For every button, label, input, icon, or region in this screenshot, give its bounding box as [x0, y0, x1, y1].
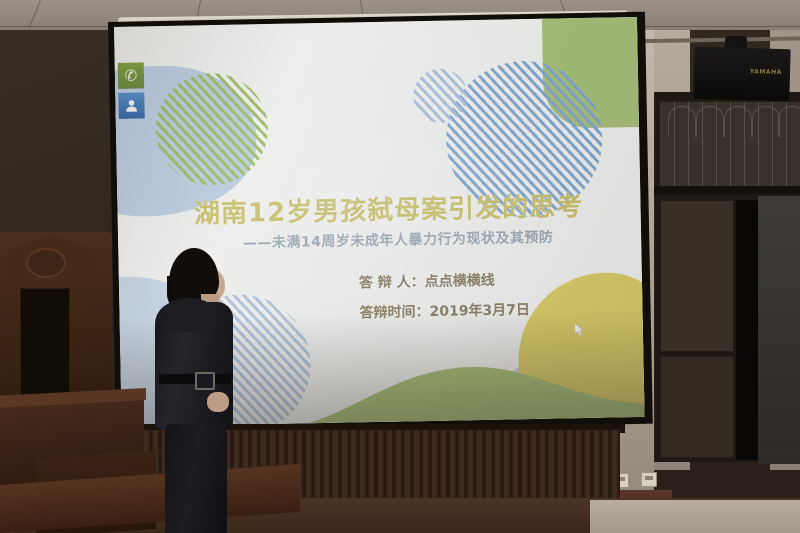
yamaha-speaker: YAMAHA: [693, 47, 790, 101]
slide-title: 湖南12岁男孩弑母案引发的思考: [173, 186, 604, 231]
door-panel: [660, 356, 734, 458]
photo-scene: YAMAHA 湖南12岁男孩弑母案引发的思考 ——未满14周岁未成年人暴力行为现…: [0, 0, 800, 533]
transom-window: [658, 100, 800, 192]
belt-buckle: [195, 372, 215, 390]
door-gap: [736, 200, 758, 460]
presenter-person: [145, 248, 250, 533]
green-hatched-circle: [155, 72, 269, 186]
chair-medallion-carving: [26, 248, 66, 278]
door-panel: [660, 200, 734, 352]
person-glyph: [124, 99, 138, 113]
clasped-hands: [207, 392, 229, 412]
trousers: [165, 424, 227, 533]
jacket-hood: [161, 298, 217, 332]
power-outlet[interactable]: [641, 472, 657, 487]
ceiling-seam: [29, 0, 41, 28]
transom-sill: [652, 186, 800, 194]
floor-tile-right: [590, 500, 800, 533]
mouse-cursor: [575, 323, 586, 337]
door-leaf[interactable]: [758, 196, 800, 464]
speaker-brand-label: YAMAHA: [750, 68, 782, 76]
phone-icon[interactable]: ✆: [118, 62, 144, 88]
contacts-icon[interactable]: [118, 92, 144, 118]
